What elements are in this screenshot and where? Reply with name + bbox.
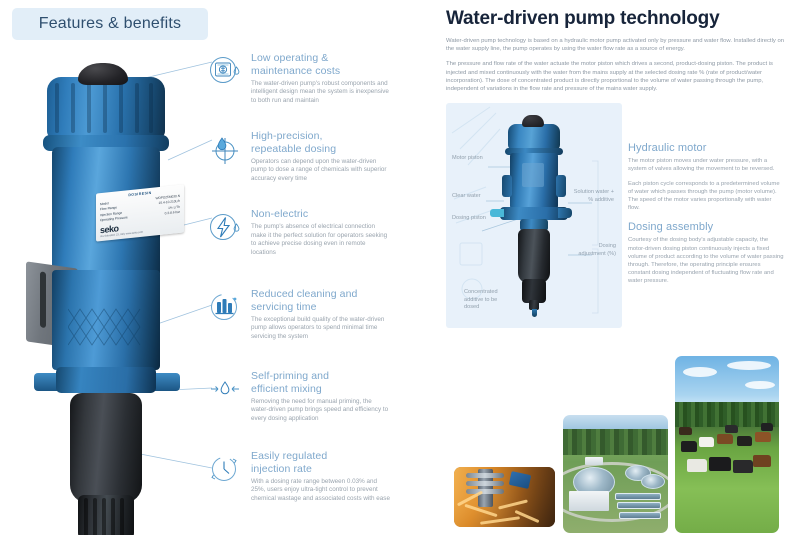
feature-title: Self-priming and efficient mixing — [251, 370, 390, 395]
diagram-clear-water-inlet — [490, 209, 504, 217]
feature-desc: With a dosing rate range between 0.03% a… — [251, 478, 390, 504]
pump-cap-collar — [47, 77, 165, 139]
droplet-crosshair-precision-icon — [208, 132, 242, 166]
feature-title: Easily regulated injection rate — [251, 450, 390, 475]
application-photo-strip — [446, 345, 790, 535]
feature-item-non-electric: Non-electric The pump's absence of elect… — [208, 208, 390, 257]
feature-item-high-precision-dosing: High-precision, repeatable dosing Operat… — [208, 130, 390, 183]
features-panel: Features & benefits — [0, 0, 440, 535]
feature-desc: Removing the need for manual priming, th… — [251, 398, 390, 424]
feature-desc: The water-driven pump's robust component… — [251, 80, 390, 106]
brochure-page: Features & benefits — [0, 0, 790, 535]
flow-droplet-arrows-icon — [208, 372, 242, 406]
lightning-bolt-icon — [208, 210, 242, 244]
product-photo-pump: DOSIRESIN ModelWDPD25M030.N Flow Range15… — [8, 55, 208, 525]
feature-title: High-precision, repeatable dosing — [251, 130, 390, 155]
product-spec-label: DOSIRESIN ModelWDPD25M030.N Flow Range15… — [96, 184, 184, 241]
diagram-label-clear-water: Clear water — [452, 193, 482, 200]
feature-item-self-priming: Self-priming and efficient mixing Removi… — [208, 370, 390, 423]
pump-flange — [56, 367, 156, 393]
technology-paragraph-1: Water-driven pump technology is based on… — [446, 37, 790, 53]
diagram-label-motor-piston: Motor piston — [452, 155, 486, 162]
technology-paragraph-2: The pressure and flow rate of the water … — [446, 60, 790, 93]
diagram-label-concentrated-additive: Concentrated additive to be dosed — [464, 289, 512, 311]
feature-title: Non-electric — [251, 208, 390, 221]
industrial-machining-photo — [454, 467, 555, 527]
pump-black-cap — [78, 63, 128, 85]
pump-diamond-texture — [68, 303, 144, 351]
section-title-dosing-assembly: Dosing assembly — [628, 221, 784, 233]
diagram-label-solution-water: Solution water + % additive — [572, 189, 614, 204]
feature-item-low-operating-costs: Low operating & maintenance costs The wa… — [208, 52, 390, 105]
water-treatment-plant-photo — [563, 415, 668, 533]
clock-regulation-icon — [208, 452, 242, 486]
pump-dosing-body — [70, 393, 142, 503]
feature-title: Low operating & maintenance costs — [251, 52, 390, 77]
features-header-label: Features & benefits — [39, 15, 182, 33]
diagram-label-dosing-adjustment: Dosing adjustment (%) — [572, 243, 616, 258]
diagram-pump-illustration — [498, 115, 570, 315]
pump-dosing-neck — [78, 495, 134, 535]
feature-desc: Operators can depend upon the water-driv… — [251, 158, 390, 184]
feature-title: Reduced cleaning and servicing time — [251, 288, 390, 313]
section-title-hydraulic-motor: Hydraulic motor — [628, 142, 784, 154]
technology-panel: Water-driven pump technology Water-drive… — [446, 0, 790, 535]
section-paragraph: The motor piston moves under water press… — [628, 157, 784, 173]
feature-desc: The exceptional build quality of the wat… — [251, 316, 390, 342]
feature-item-reduced-cleaning: Reduced cleaning and servicing time The … — [208, 288, 390, 341]
feature-desc: The pump's absence of electrical connect… — [251, 223, 390, 257]
pump-cutaway-diagram: Motor piston Clear water Dosing piston C… — [446, 103, 622, 328]
coin-water-saving-icon — [208, 54, 242, 88]
feature-item-regulated-injection-rate: Easily regulated injection rate With a d… — [208, 450, 390, 503]
section-paragraph: Courtesy of the dosing body's adjustable… — [628, 236, 784, 285]
technology-title: Water-driven pump technology — [446, 8, 790, 30]
features-header: Features & benefits — [12, 8, 208, 40]
cattle-pasture-photo — [675, 356, 779, 533]
diagram-label-dosing-piston: Dosing piston — [452, 215, 486, 222]
technology-sections: Hydraulic motor The motor piston moves u… — [628, 100, 784, 328]
cleaning-brushes-icon — [208, 290, 242, 324]
section-paragraph: Each piston cycle corresponds to a prede… — [628, 180, 784, 213]
